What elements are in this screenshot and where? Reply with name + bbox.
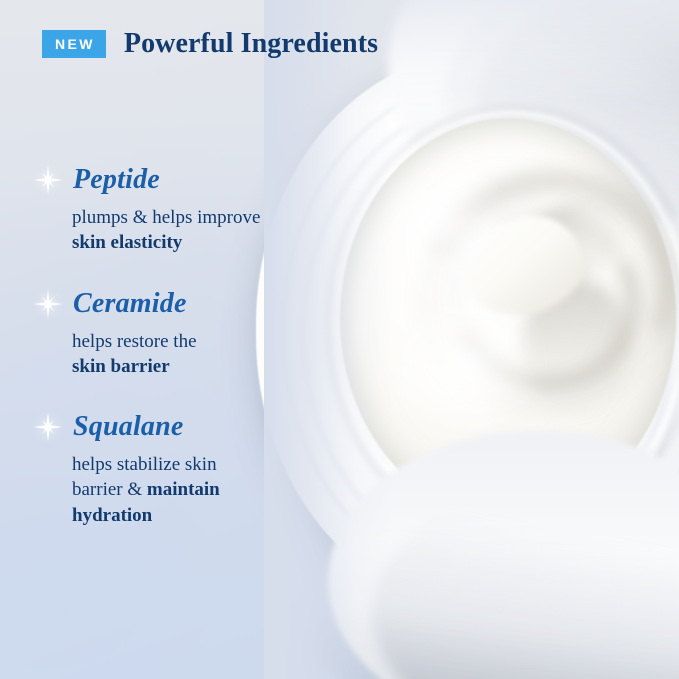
header: NEW Powerful Ingredients — [42, 28, 378, 60]
sparkle-icon — [33, 412, 63, 442]
list-item: Ceramide helps restore the skin barrier — [0, 282, 330, 380]
ingredient-description: helps restore the skin barrier — [0, 329, 330, 380]
ingredient-desc-line-bold: skin barrier — [72, 356, 170, 377]
page-title: Powerful Ingredients — [124, 28, 378, 60]
ingredient-name: Ceramide — [73, 288, 187, 320]
ingredient-heading: Peptide — [0, 158, 330, 202]
text-overlay: NEW Powerful Ingredients Peptide plumps … — [0, 0, 679, 679]
ingredient-desc-line: helps restore the — [72, 331, 197, 352]
ingredient-list: Peptide plumps & helps improve skin elas… — [0, 158, 330, 554]
sparkle-icon — [33, 289, 63, 319]
ingredient-desc-line-bold: hydration — [72, 505, 152, 526]
ingredient-name: Peptide — [73, 164, 160, 196]
ingredient-desc-line: plumps & helps improve — [72, 207, 260, 228]
new-badge: NEW — [42, 30, 106, 58]
ingredient-heading: Squalane — [0, 405, 330, 449]
ingredient-desc-inline-bold: maintain — [147, 479, 220, 500]
ingredient-desc-line: barrier & — [72, 479, 147, 500]
ingredient-heading: Ceramide — [0, 282, 330, 326]
product-ingredients-graphic: NEW Powerful Ingredients Peptide plumps … — [0, 0, 679, 679]
sparkle-icon — [33, 165, 63, 195]
ingredient-name: Squalane — [73, 411, 184, 443]
ingredient-description: helps stabilize skin barrier & maintain … — [0, 452, 330, 528]
list-item: Squalane helps stabilize skin barrier & … — [0, 405, 330, 528]
ingredient-desc-line-bold: skin elasticity — [72, 232, 182, 253]
ingredient-desc-line: helps stabilize skin — [72, 454, 217, 475]
list-item: Peptide plumps & helps improve skin elas… — [0, 158, 330, 256]
ingredient-description: plumps & helps improve skin elasticity — [0, 205, 330, 256]
